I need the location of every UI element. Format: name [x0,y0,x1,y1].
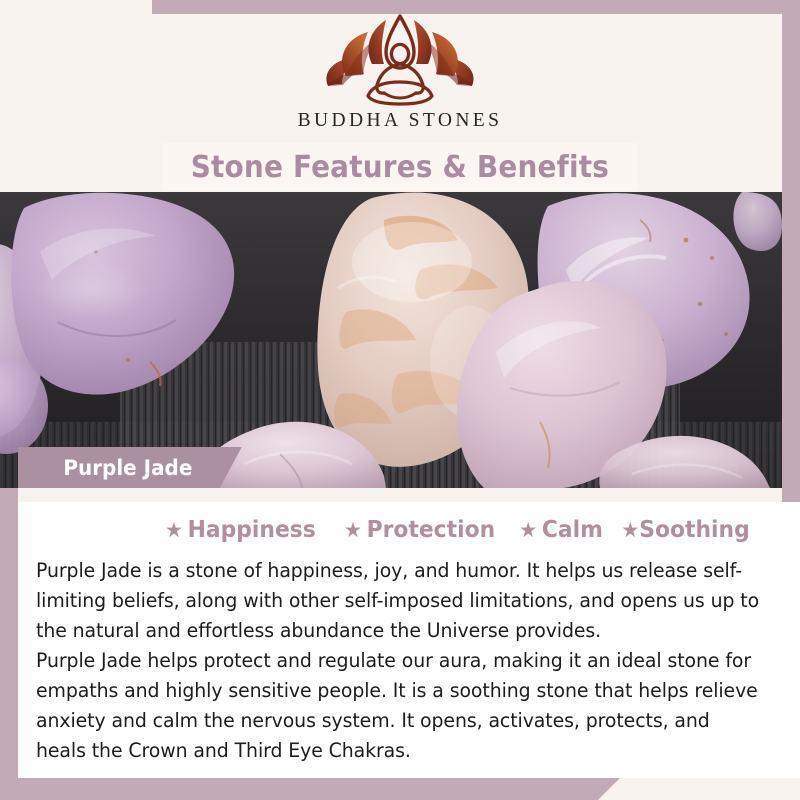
photo-card-divider [18,488,782,502]
frame-left-bar [0,488,18,785]
frame-top-bar [152,0,800,14]
description-paragraph-1: Purple Jade is a stone of happiness, joy… [36,556,760,646]
page-title: Stone Features & Benefits [191,150,609,185]
star-icon: ★ [344,520,362,541]
benefit-item-soothing: ★ Soothing [621,517,749,543]
star-icon: ★ [165,520,183,541]
poster-root: BUDDHA STONES Stone Features & Benefits [0,0,800,800]
benefit-label: Calm [542,517,603,543]
benefit-item-protection: ★ Protection [344,517,495,543]
headline-banner: Stone Features & Benefits [162,143,638,191]
description-block: Purple Jade is a stone of happiness, joy… [18,552,800,766]
benefit-label: Happiness [188,517,316,543]
benefit-label: Soothing [639,517,749,543]
brand-block: BUDDHA STONES [0,14,800,142]
description-paragraph-2: Purple Jade helps protect and regulate o… [36,646,760,766]
benefit-item-happiness: ★ Happiness [165,517,316,543]
lotus-meditation-icon [312,14,488,108]
benefits-row: ★ Happiness ★ Protection ★ Calm ★ Soothi… [18,508,800,552]
star-icon: ★ [519,520,537,541]
benefit-item-calm: ★ Calm [519,517,603,543]
brand-name: BUDDHA STONES [298,110,503,132]
content-card: ★ Happiness ★ Protection ★ Calm ★ Soothi… [18,502,800,778]
benefit-label: Protection [366,517,495,543]
stone-photo [0,192,782,488]
frame-bottom-bar [0,778,620,800]
stone-label-chip: Purple Jade [18,447,242,488]
star-icon: ★ [621,520,639,541]
stone-label-text: Purple Jade [63,456,192,480]
